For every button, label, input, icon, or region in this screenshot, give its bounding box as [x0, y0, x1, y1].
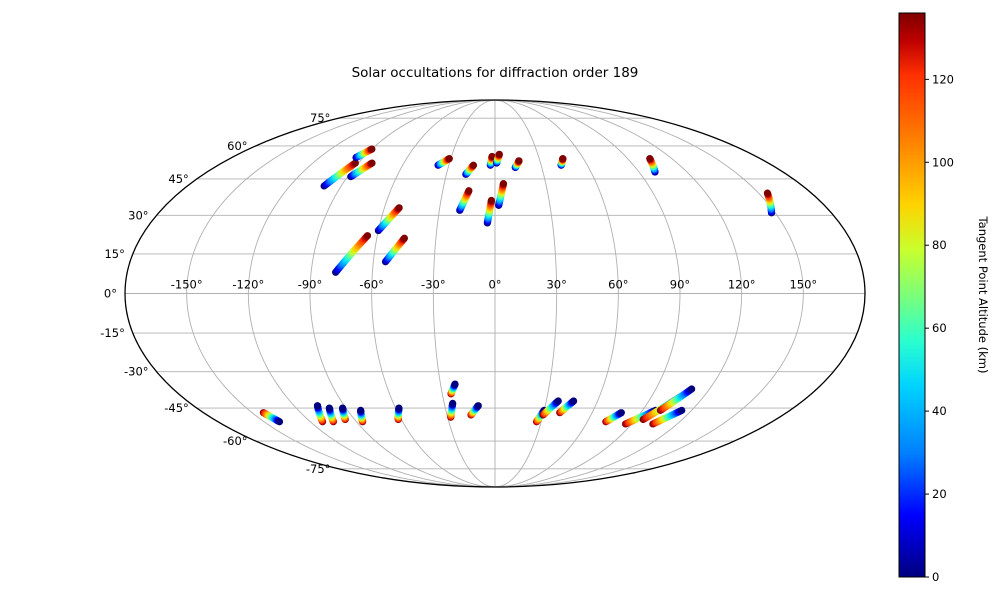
occultation-point — [764, 190, 771, 197]
longitude-tick-label: -150° — [171, 278, 203, 292]
colorbar-tick-label: 120 — [932, 72, 954, 86]
longitude-tick-label: 150° — [789, 278, 817, 292]
latitude-tick-label: -75° — [306, 462, 331, 476]
latitude-tick-label: 75° — [310, 111, 330, 125]
occultation-point — [449, 400, 456, 407]
occultation-point — [396, 204, 403, 211]
occultation-point — [368, 145, 375, 152]
colorbar-tick-label: 100 — [932, 155, 954, 169]
occultation-point — [678, 407, 685, 414]
occultation-point — [446, 155, 453, 162]
occultation-point — [368, 159, 375, 166]
colorbar-tick-label: 0 — [932, 570, 939, 584]
occultation-point — [555, 397, 562, 404]
latitude-tick-label: -15° — [100, 326, 125, 340]
occultation-point — [451, 381, 458, 388]
latitude-tick-label: 30° — [128, 208, 148, 222]
occultation-point — [395, 404, 402, 411]
longitude-tick-label: 90° — [670, 278, 690, 292]
occultation-point — [500, 180, 507, 187]
latitude-tick-label: -30° — [124, 365, 149, 379]
latitude-tick-label: 60° — [227, 139, 247, 153]
occultation-point — [314, 402, 321, 409]
latitude-tick-label: -60° — [223, 434, 248, 448]
latitude-tick-label: 45° — [168, 172, 188, 186]
colorbar-tick-label: 80 — [932, 238, 947, 252]
longitude-tick-label: -90° — [298, 278, 323, 292]
longitude-tick-label: -60° — [359, 278, 384, 292]
occultation-point — [570, 397, 577, 404]
occultation-point — [401, 235, 408, 242]
occultation-point — [470, 162, 477, 169]
mollweide-plot: Solar occultations for diffraction order… — [0, 0, 1000, 600]
occultation-point — [618, 409, 625, 416]
occultation-point — [326, 404, 333, 411]
colorbar-tick-label: 20 — [932, 487, 947, 501]
longitude-tick-label: -30° — [421, 278, 446, 292]
latitude-tick-label: 0° — [104, 287, 117, 301]
occultation-point — [559, 155, 566, 162]
occultation-point — [465, 187, 472, 194]
occultation-point — [488, 197, 495, 204]
longitude-tick-label: 120° — [728, 278, 756, 292]
latitude-tick-label: -45° — [164, 401, 189, 415]
colorbar[interactable] — [899, 13, 925, 577]
occultation-point — [688, 385, 695, 392]
plot-background — [0, 0, 1000, 600]
colorbar-tick-label: 40 — [932, 404, 947, 418]
colorbar-label: Tangent Point Altitude (km) — [976, 216, 990, 374]
occultation-point — [364, 232, 371, 239]
longitude-tick-label: 30° — [546, 278, 566, 292]
longitude-tick-label: 60° — [608, 278, 628, 292]
occultation-point — [357, 407, 364, 414]
figure-canvas: Solar occultations for diffraction order… — [0, 0, 1000, 600]
occultation-point — [276, 418, 283, 425]
longitude-tick-label: -120° — [232, 278, 264, 292]
latitude-tick-label: 15° — [104, 247, 124, 261]
occultation-point — [339, 404, 346, 411]
occultation-point — [515, 157, 522, 164]
occultation-point — [646, 155, 653, 162]
page-title: Solar occultations for diffraction order… — [352, 65, 639, 81]
occultation-point — [496, 151, 503, 158]
colorbar-tick-label: 60 — [932, 321, 947, 335]
occultation-point — [475, 402, 482, 409]
longitude-tick-label: 0° — [488, 278, 501, 292]
